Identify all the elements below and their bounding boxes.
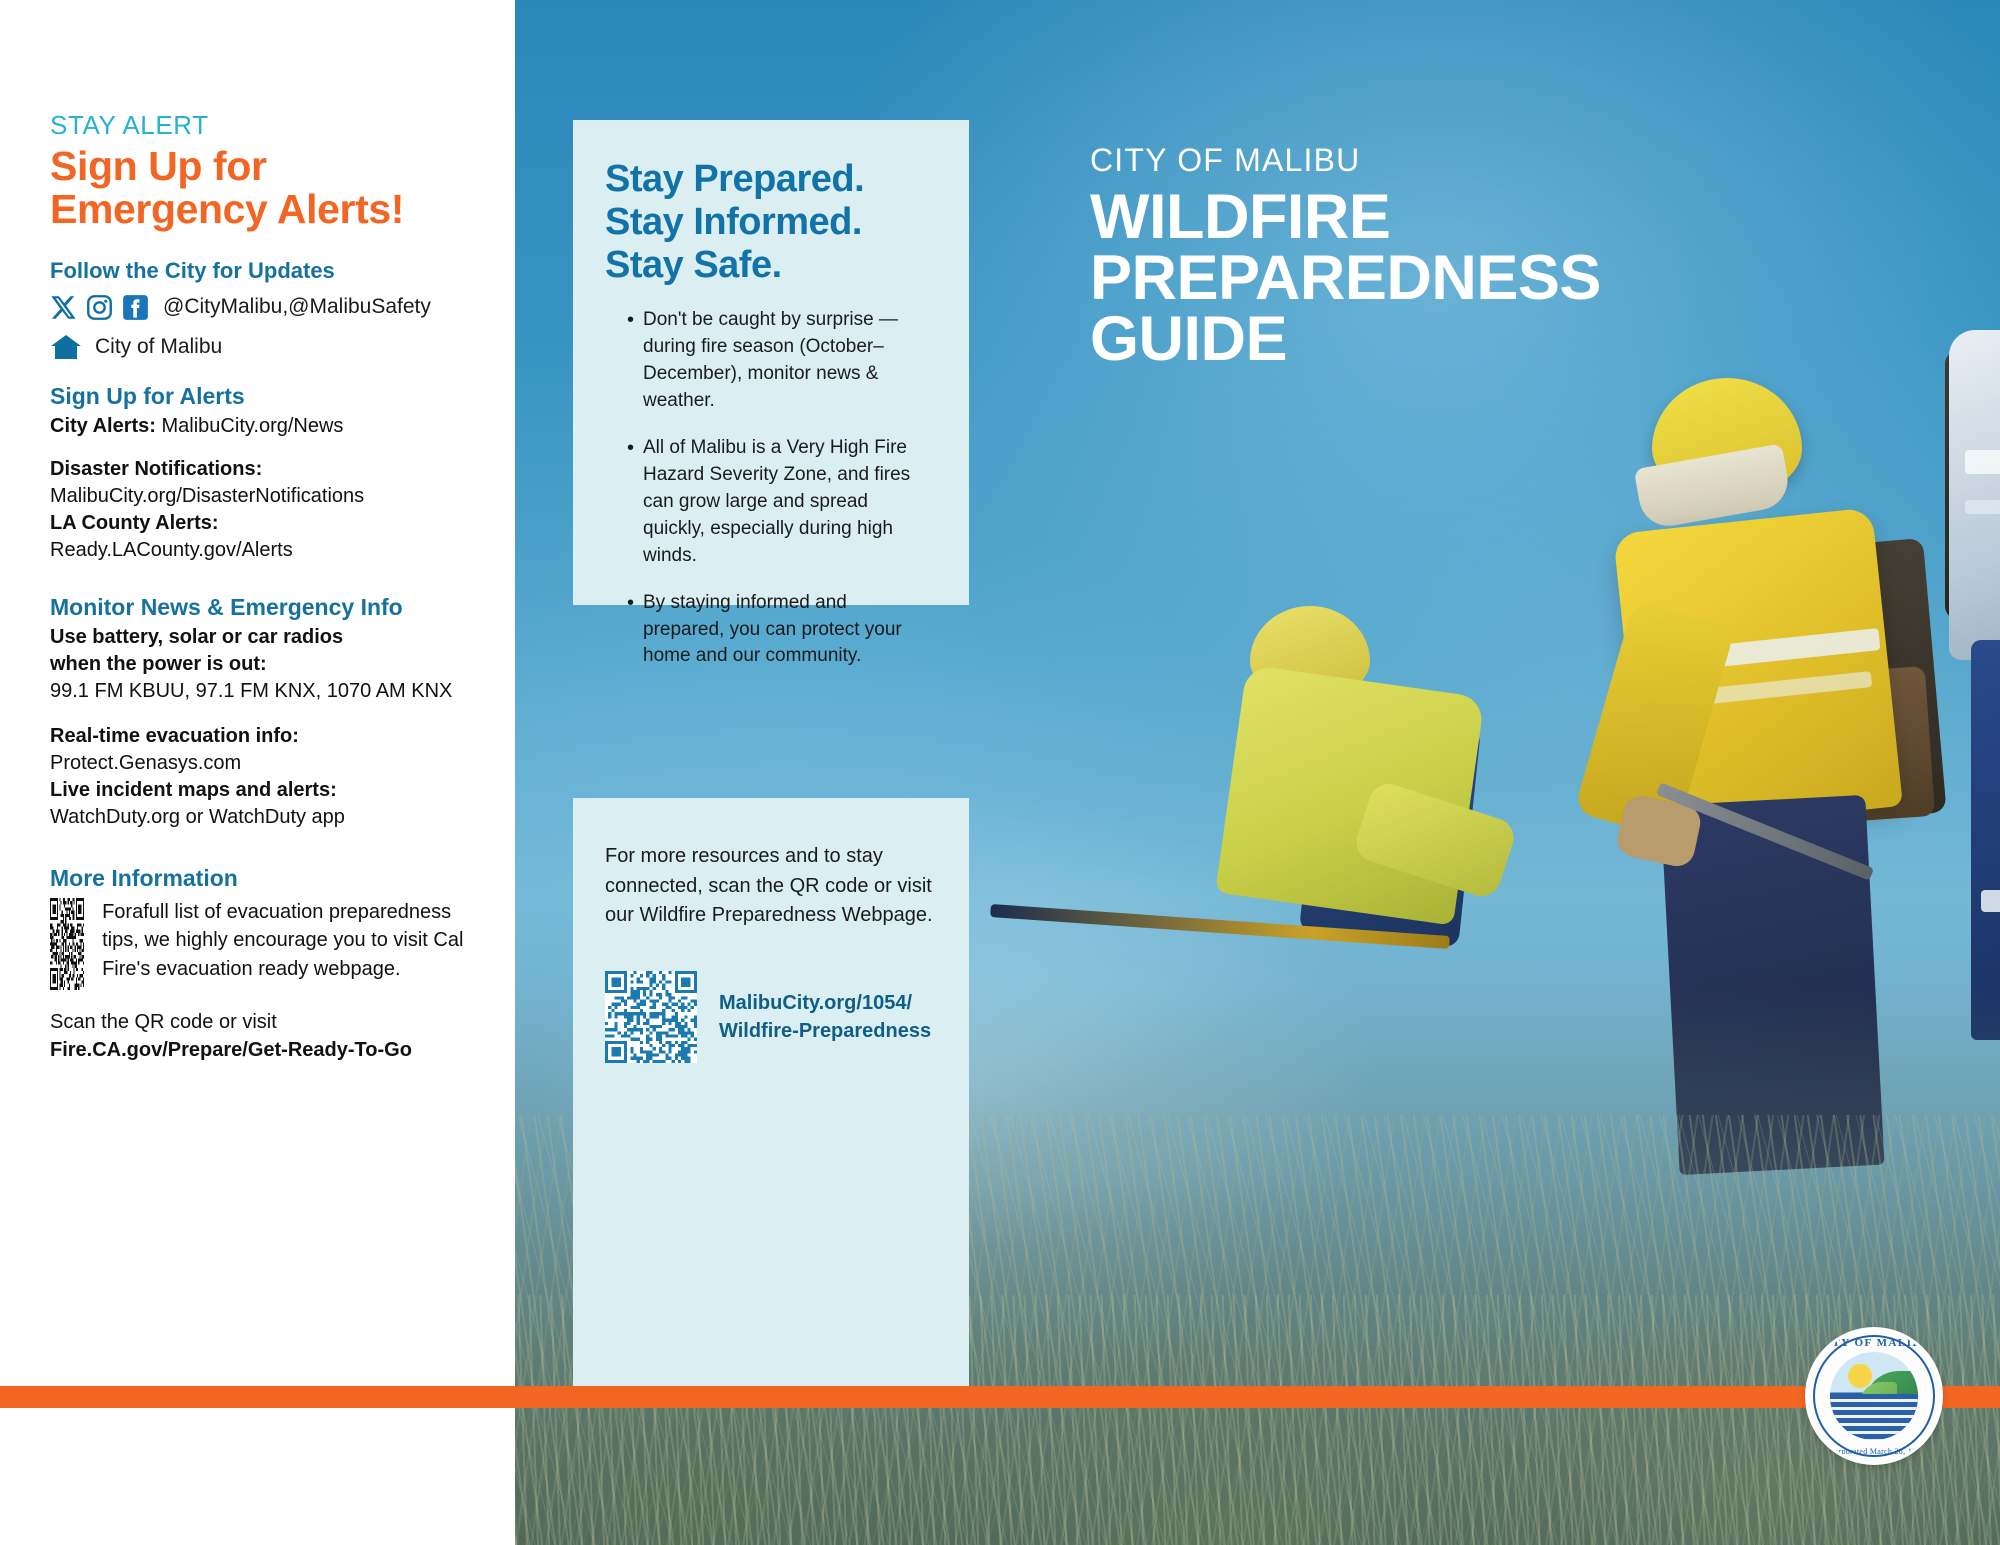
wildfire-preparedness-link[interactable]: MalibuCity.org/1054/ Wildfire-Preparedne…: [719, 989, 931, 1045]
left-info-panel: STAY ALERT Sign Up for Emergency Alerts!…: [0, 0, 515, 1545]
scan-line-text: Scan the QR code or visit: [50, 1008, 480, 1036]
qr-code-icon[interactable]: [50, 898, 84, 990]
city-alerts-value[interactable]: MalibuCity.org/News: [162, 415, 344, 437]
realtime-evac-label: Real-time evacuation info:: [50, 723, 480, 750]
realtime-evac-value[interactable]: Protect.Genasys.com: [50, 750, 480, 777]
qr-resources-body: For more resources and to stay connected…: [605, 842, 939, 931]
house-icon: [50, 333, 82, 361]
la-county-alerts-value[interactable]: Ready.LACounty.gov/Alerts: [50, 537, 480, 564]
facebook-icon[interactable]: [122, 294, 149, 321]
cover-title: WILDFIRE PREPAREDNESS GUIDE: [1090, 187, 1970, 370]
nixle-row: City of Malibu: [50, 333, 480, 361]
brochure-page: CITY OF MALIBU WILDFIRE PREPAREDNESS GUI…: [0, 0, 2000, 1545]
radio-label-line-2: when the power is out:: [50, 651, 480, 678]
seal-artwork: [1830, 1352, 1918, 1440]
live-incident-label: Live incident maps and alerts:: [50, 777, 480, 804]
list-item: Don't be caught by surprise — during fir…: [627, 307, 933, 415]
link-line-2: Wildfire-Preparedness: [719, 1017, 931, 1045]
cover-title-line-2: PREPAREDNESS: [1090, 248, 1970, 309]
qr-link-block: MalibuCity.org/1054/ Wildfire-Preparedne…: [605, 971, 939, 1063]
cover-title-block: CITY OF MALIBU WILDFIRE PREPAREDNESS GUI…: [1090, 142, 1970, 370]
stay-prepared-line-1: Stay Prepared.: [605, 158, 939, 201]
more-information-section: More Information Forafull list of evacua…: [50, 865, 480, 1064]
link-line-1: MalibuCity.org/1054/: [719, 989, 931, 1017]
radio-stations: 99.1 FM KBUU, 97.1 FM KNX, 1070 AM KNX: [50, 678, 480, 705]
stay-prepared-line-2: Stay Informed.: [605, 201, 939, 244]
qr-card-extension: [573, 1156, 969, 1404]
x-twitter-icon[interactable]: [50, 294, 77, 321]
city-alerts-label: City Alerts:: [50, 415, 156, 437]
monitor-news-section: Monitor News & Emergency Info Use batter…: [50, 594, 480, 831]
la-county-alerts-label: LA County Alerts:: [50, 510, 480, 537]
qr-resources-card: For more resources and to stay connected…: [573, 798, 969, 1156]
nixle-label: City of Malibu: [95, 335, 222, 359]
radio-label-line-1: Use battery, solar or car radios: [50, 624, 480, 651]
cover-title-line-1: WILDFIRE: [1090, 187, 1970, 248]
page-title-line-2: Emergency Alerts!: [50, 188, 480, 231]
turnout-coat: [1215, 664, 1485, 925]
cover-title-line-3: GUIDE: [1090, 309, 1970, 370]
calfire-url[interactable]: Fire.CA.gov/Prepare/Get-Ready-To-Go: [50, 1036, 480, 1064]
page-title-line-1: Sign Up for: [50, 145, 480, 188]
social-row: @CityMalibu,@MalibuSafety: [50, 294, 480, 321]
page-title: Sign Up for Emergency Alerts!: [50, 145, 480, 232]
stay-prepared-title: Stay Prepared. Stay Informed. Stay Safe.: [605, 158, 939, 287]
scan-instruction: Scan the QR code or visit Fire.CA.gov/Pr…: [50, 1008, 480, 1064]
stay-prepared-card: Stay Prepared. Stay Informed. Stay Safe.…: [573, 120, 969, 605]
disaster-notifications-label: Disaster Notifications:: [50, 456, 480, 483]
monitor-news-heading: Monitor News & Emergency Info: [50, 594, 480, 621]
stay-prepared-line-3: Stay Safe.: [605, 244, 939, 287]
list-item: By staying informed and prepared, you ca…: [627, 590, 933, 671]
city-alerts-row: City Alerts: MalibuCity.org/News: [50, 413, 480, 440]
disaster-notifications-value[interactable]: MalibuCity.org/DisasterNotifications: [50, 483, 480, 510]
sun-icon: [1848, 1364, 1872, 1388]
sign-up-alerts-section: Sign Up for Alerts City Alerts: MalibuCi…: [50, 383, 480, 564]
cover-kicker: CITY OF MALIBU: [1090, 142, 1970, 179]
stay-prepared-bullet-list: Don't be caught by surprise — during fir…: [605, 307, 939, 671]
ocean-waves: [1830, 1394, 1918, 1440]
sign-up-alerts-heading: Sign Up for Alerts: [50, 383, 480, 410]
orange-divider-bar: [0, 1386, 2000, 1408]
more-info-body: Forafull list of evacuation preparedness…: [102, 898, 480, 983]
follow-heading: Follow the City for Updates: [50, 258, 480, 284]
seal-top-text: CITY OF MALIBU: [1808, 1337, 1940, 1349]
more-info-qr-row: Forafull list of evacuation preparedness…: [50, 898, 480, 990]
live-incident-value[interactable]: WatchDuty.org or WatchDuty app: [50, 804, 480, 831]
more-information-heading: More Information: [50, 865, 480, 892]
city-of-malibu-seal: CITY OF MALIBU Incorporated March 28, 19…: [1808, 1330, 1940, 1462]
seal-bottom-text: Incorporated March 28, 1991: [1808, 1447, 1940, 1456]
social-handles: @CityMalibu,@MalibuSafety: [163, 295, 431, 319]
stay-alert-eyebrow: STAY ALERT: [50, 110, 480, 141]
qr-code-icon[interactable]: [605, 971, 697, 1063]
instagram-icon[interactable]: [86, 294, 113, 321]
list-item: All of Malibu is a Very High Fire Hazard…: [627, 435, 933, 570]
